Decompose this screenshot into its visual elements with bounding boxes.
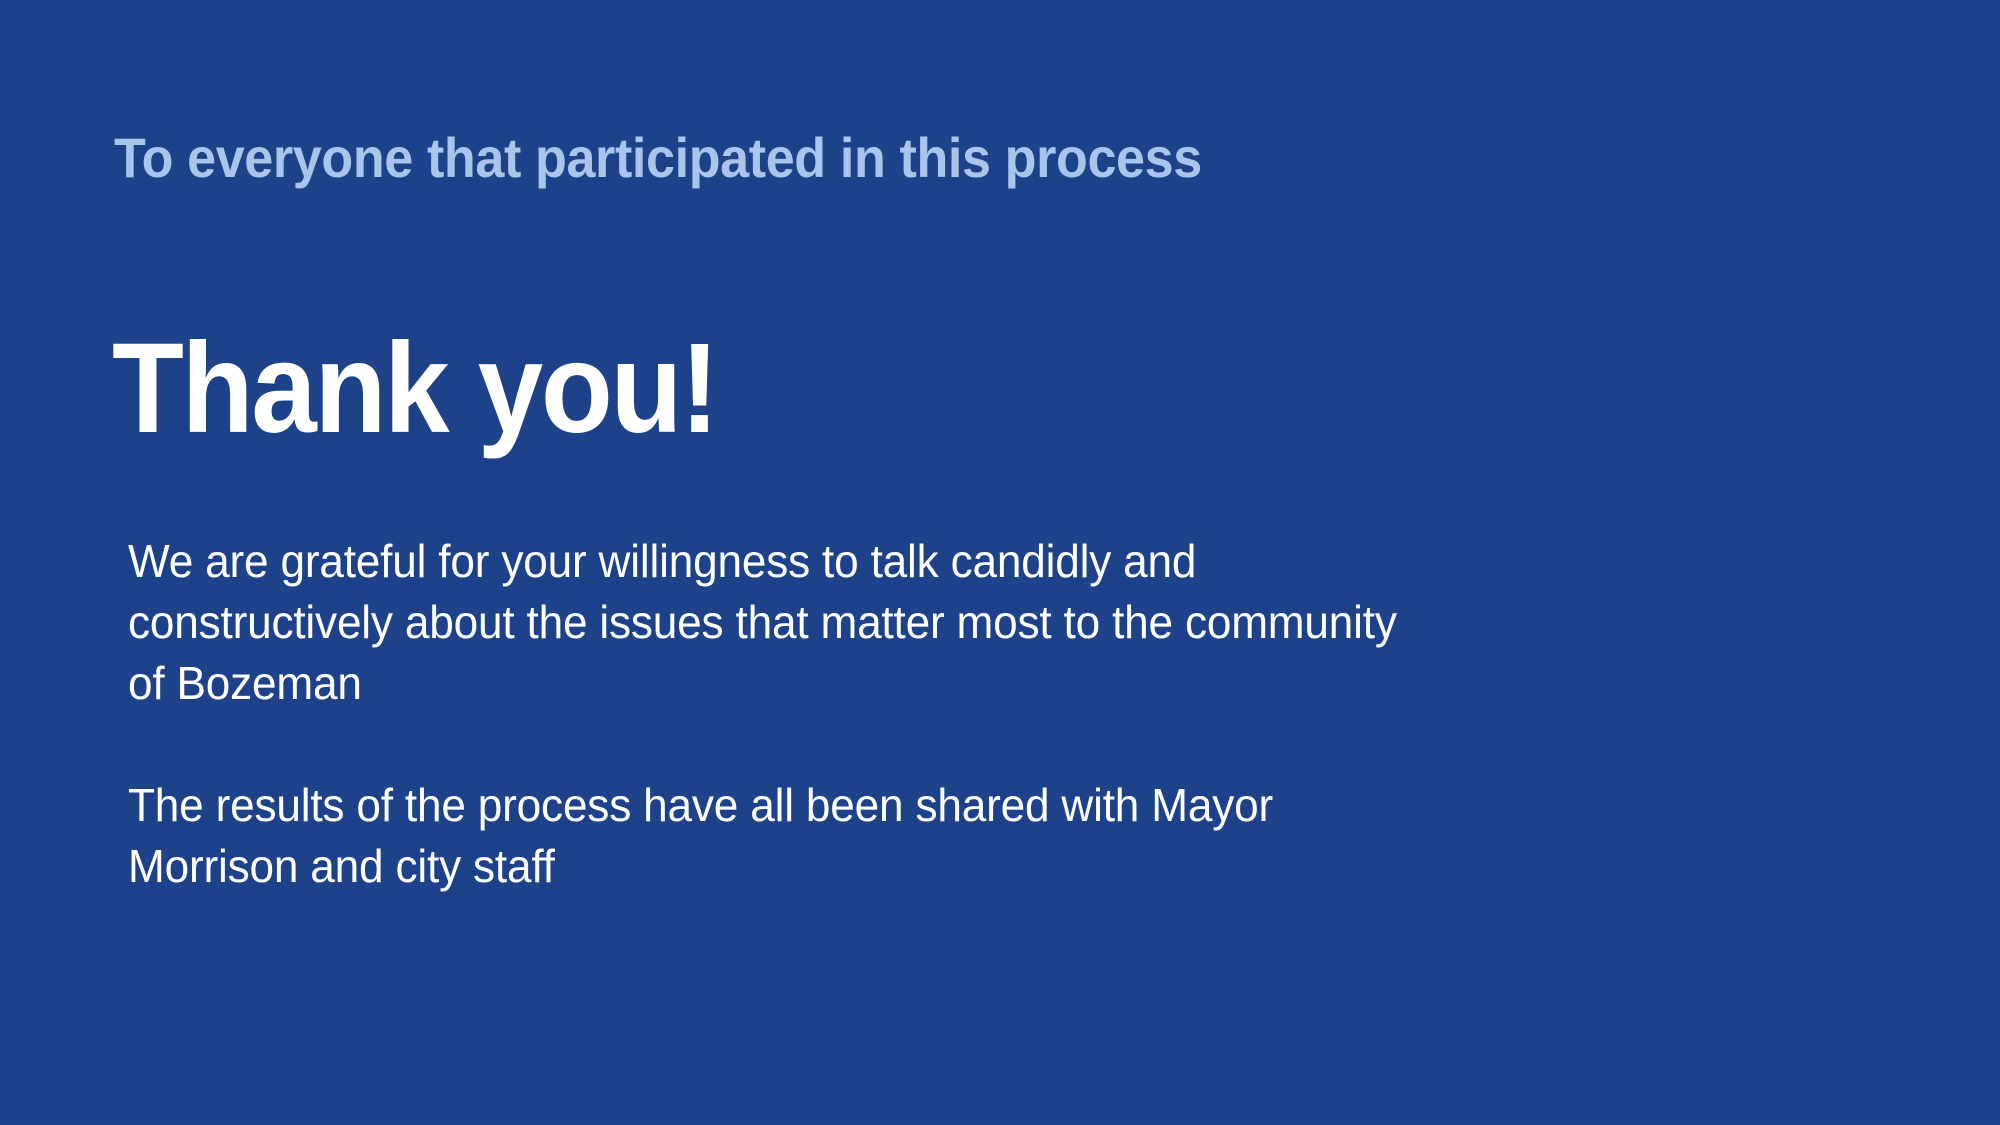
paragraph-line: We are grateful for your willingness to …: [128, 531, 1626, 592]
paragraph-line: The results of the process have all been…: [128, 775, 1626, 836]
paragraph-line: constructively about the issues that mat…: [128, 592, 1626, 653]
paragraph-results-shared: The results of the process have all been…: [128, 775, 1626, 897]
paragraph-line: Morrison and city staff: [128, 836, 1626, 897]
slide-canvas: To everyone that participated in this pr…: [0, 0, 2000, 1125]
paragraph-line: of Bozeman: [128, 653, 1626, 714]
slide-eyebrow: To everyone that participated in this pr…: [114, 127, 1602, 189]
body-copy: We are grateful for your willingness to …: [128, 485, 1688, 943]
paragraph-gratitude: We are grateful for your willingness to …: [128, 531, 1626, 714]
page-title: Thank you!: [112, 323, 717, 455]
